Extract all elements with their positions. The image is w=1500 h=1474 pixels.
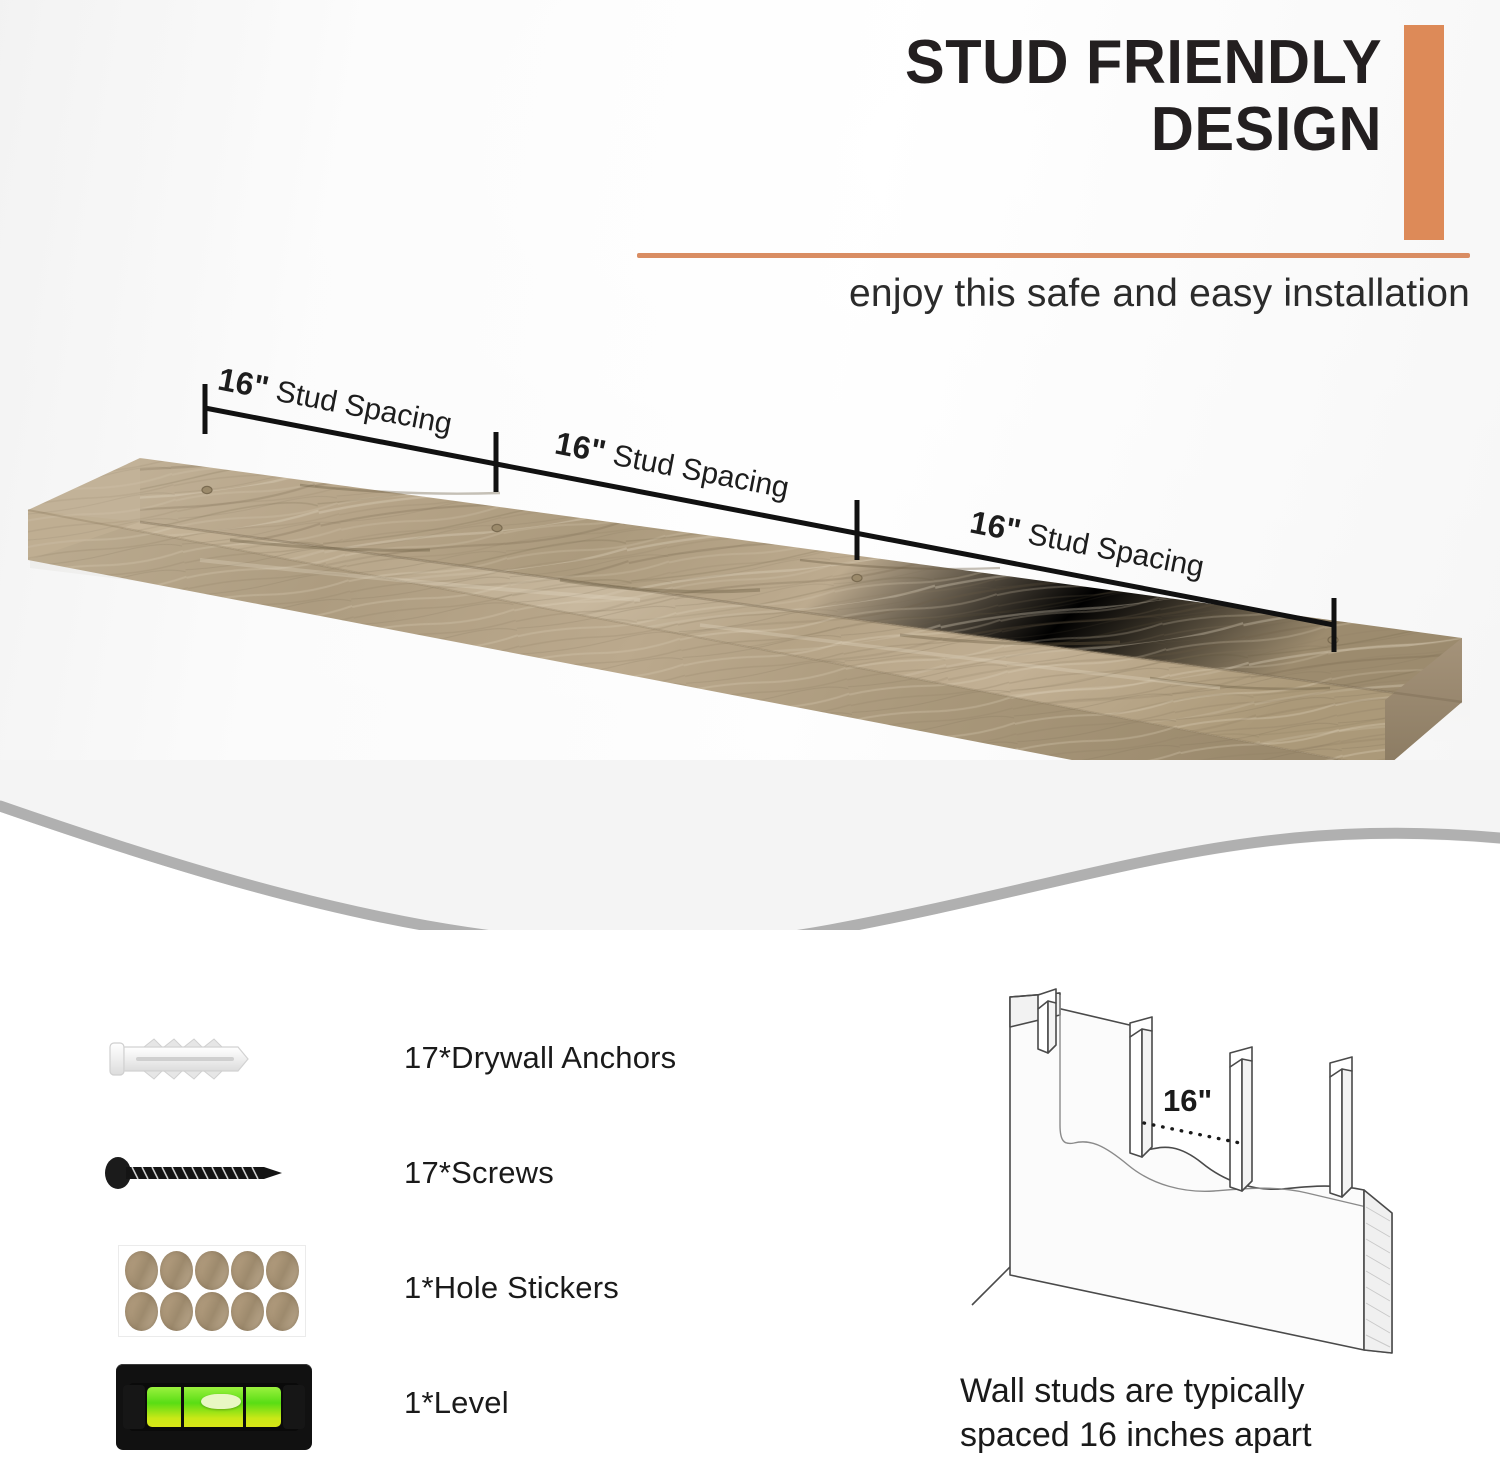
parts-list-label: 1*Level [404, 1385, 509, 1421]
diagram-dimension-label: 16" [1163, 1083, 1212, 1119]
sticker-dot [266, 1251, 299, 1290]
sticker-dot [125, 1292, 158, 1331]
parts-list-label: 17*Screws [404, 1155, 554, 1191]
parts-list: 17*Drywall Anchors 17*Screws [96, 1000, 736, 1460]
page-title: STUD FRIENDLY DESIGN [710, 30, 1382, 164]
page-title-line-2: DESIGN [710, 97, 1382, 164]
list-item: 17*Drywall Anchors [96, 1000, 736, 1115]
diagram-dimension-line [1144, 1123, 1240, 1143]
accent-bar [1404, 25, 1444, 240]
sticker-dot [231, 1251, 264, 1290]
infographic-stage: STUD FRIENDLY DESIGN enjoy this safe and… [0, 0, 1500, 1474]
page-title-line-1: STUD FRIENDLY [905, 28, 1382, 97]
wall-caption-line-1: Wall studs are typically [960, 1370, 1430, 1414]
wall-caption-line-2: spaced 16 inches apart [960, 1414, 1430, 1458]
sticker-dot [160, 1251, 193, 1290]
sticker-dot [195, 1251, 228, 1290]
sticker-dot [266, 1292, 299, 1331]
sticker-dot [125, 1251, 158, 1290]
wall-stud-diagram [952, 975, 1452, 1365]
drywall-anchor-icon [96, 1003, 326, 1113]
page-subtitle: enjoy this safe and easy installation [570, 272, 1470, 316]
list-item: 1*Level [96, 1345, 736, 1460]
sticker-dot [231, 1292, 264, 1331]
parts-list-label: 1*Hole Stickers [404, 1270, 619, 1306]
sticker-dot [195, 1292, 228, 1331]
bubble-level-icon [96, 1348, 326, 1458]
parts-list-label: 17*Drywall Anchors [404, 1040, 676, 1076]
hole-sticker-sheet-icon [96, 1233, 326, 1343]
sticker-dot [160, 1292, 193, 1331]
list-item: 1*Hole Stickers [96, 1230, 736, 1345]
header-divider-rule [637, 253, 1470, 258]
list-item: 17*Screws [96, 1115, 736, 1230]
screw-icon [96, 1118, 326, 1228]
wall-diagram-caption: Wall studs are typically spaced 16 inche… [960, 1370, 1430, 1457]
